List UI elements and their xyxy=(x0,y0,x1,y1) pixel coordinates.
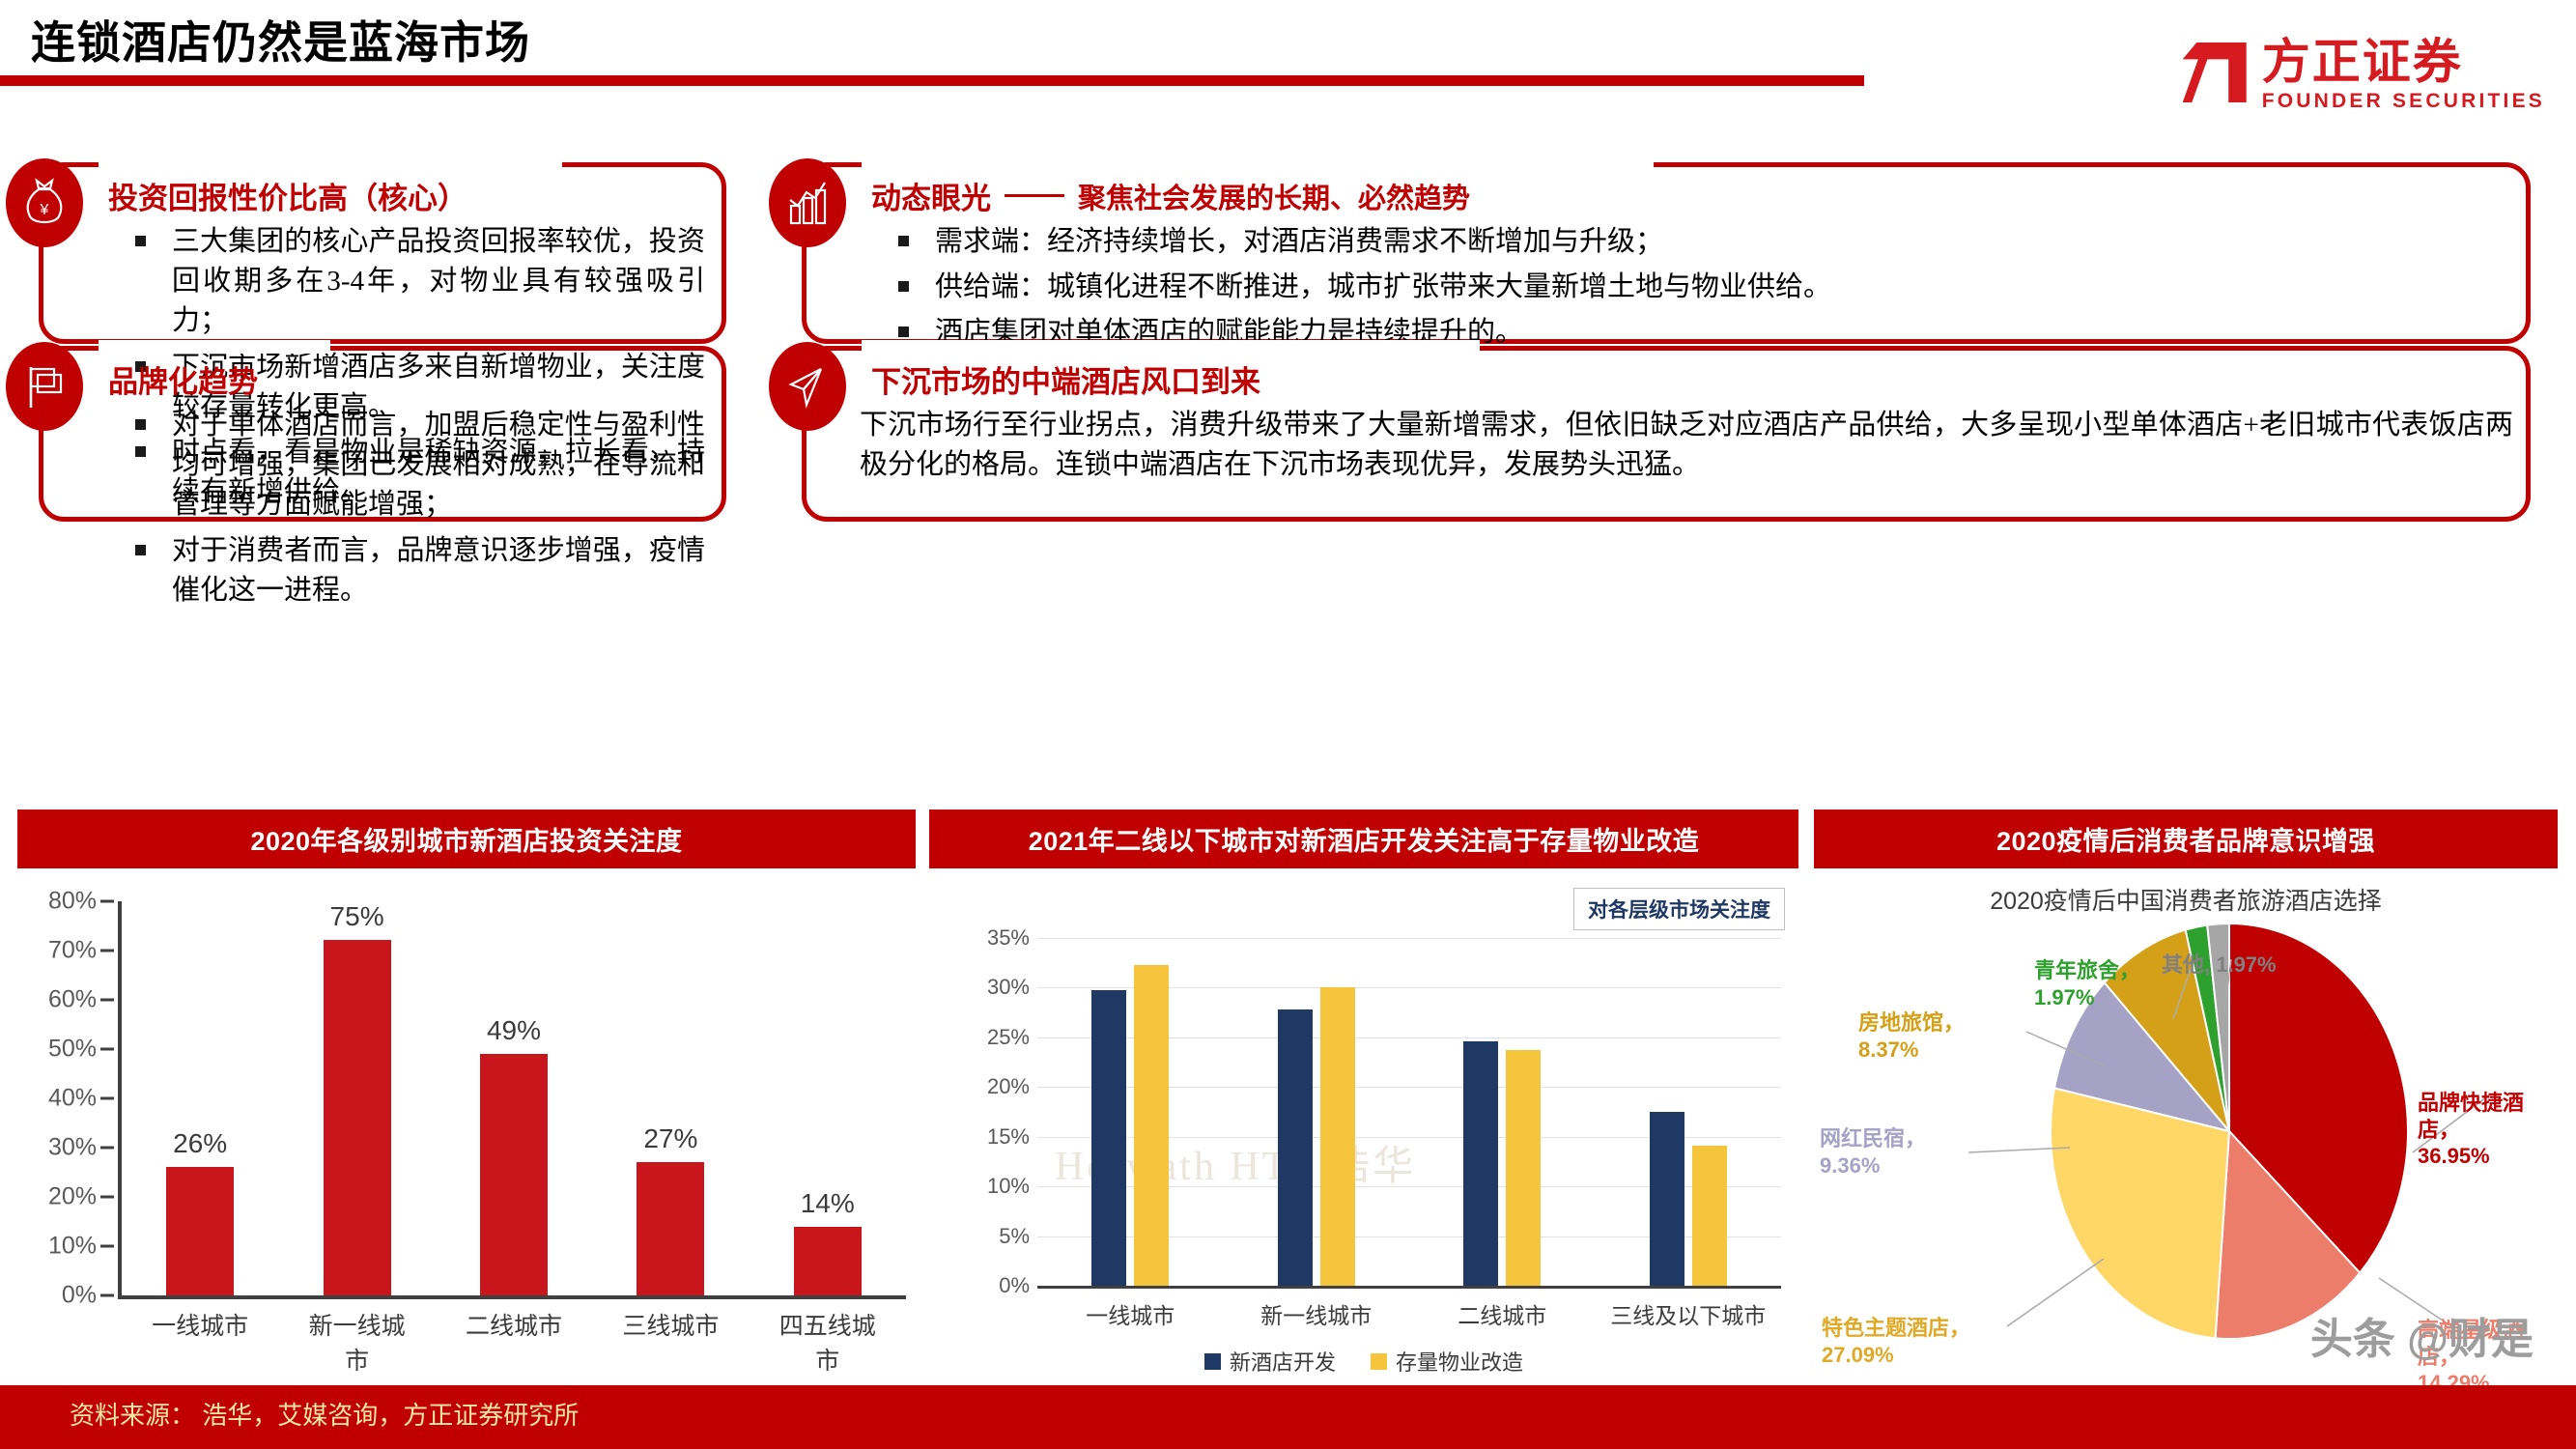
bar-value-label: 27% xyxy=(643,1123,697,1154)
bar-value-label: 49% xyxy=(487,1015,541,1046)
bar xyxy=(480,1054,548,1295)
legend-label: 存量物业改造 xyxy=(1396,1346,1523,1377)
bar-group: 27% xyxy=(613,901,727,1295)
bar xyxy=(1692,1146,1727,1286)
bar-group xyxy=(1091,938,1169,1286)
bar-group: 75% xyxy=(300,901,414,1295)
bar xyxy=(637,1162,704,1295)
legend-label: 新酒店开发 xyxy=(1230,1346,1336,1377)
brand-logo: 方正证券 FOUNDER SECURITIES xyxy=(2183,37,2545,113)
x-tick-label: 三线城市 xyxy=(613,1307,727,1377)
bar xyxy=(1320,987,1355,1286)
bar-value-label: 14% xyxy=(801,1188,855,1219)
bar xyxy=(1650,1112,1684,1286)
slide: 连锁酒店仍然是蓝海市场 方正证券 FOUNDER SECURITIES ¥ 投资… xyxy=(0,0,2576,1449)
bar xyxy=(1463,1041,1498,1286)
list-item: 供给端：城镇化进程不断推进，城市扩张带来大量新增土地与物业供给。 xyxy=(891,268,2509,307)
list-item: 对于消费者而言，品牌意识逐步增强，疫情催化这一进程。 xyxy=(127,531,705,611)
y-tick-label: 70% xyxy=(48,937,97,965)
callout-brandization-trend: 品牌化趋势 对于单体酒店而言，加盟后稳定性与盈利性均可增强，集团已发展相对成熟，… xyxy=(39,346,726,522)
bar xyxy=(794,1227,862,1295)
bar xyxy=(1506,1050,1541,1286)
y-tick-mark xyxy=(100,1196,114,1199)
title-divider xyxy=(0,75,1864,86)
leader-line xyxy=(2007,1259,2104,1326)
y-tick-label: 0% xyxy=(62,1282,97,1310)
y-tick-mark xyxy=(100,1294,114,1297)
paper-plane-icon xyxy=(769,342,846,431)
callout-title: 下沉市场的中端酒店风口到来 xyxy=(871,357,1260,401)
bar xyxy=(1278,1009,1313,1286)
list-item: 需求端：经济持续增长，对酒店消费需求不断增加与升级； xyxy=(891,222,2509,262)
bar-group xyxy=(1463,938,1541,1286)
flag-icon xyxy=(6,342,83,431)
x-tick-label: 四五线城市 xyxy=(771,1307,885,1377)
panel-bar-chart-2: 2021年二线以下城市对新酒店开发关注高于存量物业改造 对各层级市场关注度 0%… xyxy=(929,810,1798,1394)
y-tick-mark xyxy=(100,999,114,1002)
money-bag-icon: ¥ xyxy=(6,158,83,247)
x-axis-line xyxy=(118,1295,906,1299)
y-tick-label: 15% xyxy=(937,1124,1030,1150)
y-tick-label: 0% xyxy=(937,1273,1030,1298)
bar xyxy=(1134,965,1169,1286)
y-tick-mark xyxy=(100,1245,114,1248)
y-tick-label: 10% xyxy=(937,1174,1030,1199)
callout-subtitle-text: 聚焦社会发展的长期、必然趋势 xyxy=(1078,176,1470,216)
bar-group xyxy=(1650,938,1727,1286)
bar-value-label: 26% xyxy=(173,1128,227,1159)
y-tick-label: 30% xyxy=(48,1134,97,1162)
y-tick-label: 25% xyxy=(937,1025,1030,1050)
plot-area: 26%75%49%27%14% xyxy=(122,901,906,1295)
panel-title: 2021年二线以下城市对新酒店开发关注高于存量物业改造 xyxy=(929,810,1798,868)
callout-title: 品牌化趋势 xyxy=(108,357,258,401)
callout-bullet-list: 对于单体酒店而言，加盟后稳定性与盈利性均可增强，集团已发展相对成熟，在导流和管理… xyxy=(127,406,705,616)
pie-slice-label: 特色主题酒店， 27.09% xyxy=(1822,1315,1970,1368)
callout-paragraph: 下沉市场行至行业拐点，消费升级带来了大量新增需求，但依旧缺乏对应酒店产品供给，大… xyxy=(860,406,2513,485)
toutiao-watermark: 头条 @财是 xyxy=(2310,1304,2534,1366)
legend-swatch xyxy=(1204,1353,1221,1370)
legend-item: 新酒店开发 xyxy=(1204,1346,1336,1377)
x-tick-label: 新一线城市 xyxy=(1234,1297,1399,1330)
y-tick-label: 35% xyxy=(937,925,1030,951)
x-tick-label: 三线及以下城市 xyxy=(1606,1297,1770,1330)
x-axis-line xyxy=(1037,1286,1781,1289)
legend-item: 存量物业改造 xyxy=(1371,1346,1523,1377)
y-axis: 0%10%20%30%40%50%60%70%80% xyxy=(17,901,122,1295)
bar-chart-icon xyxy=(769,158,846,247)
brand-name-cn: 方正证券 xyxy=(2262,37,2545,88)
callout-title-text: 品牌化趋势 xyxy=(108,357,258,401)
x-axis-labels: 一线城市新一线城市二线城市三线及以下城市 xyxy=(1037,1297,1781,1330)
y-tick-label: 20% xyxy=(48,1183,97,1211)
legend-swatch xyxy=(1371,1353,1387,1370)
y-tick-label: 50% xyxy=(48,1036,97,1064)
pie-slice-label: 网红民宿， 9.36% xyxy=(1820,1125,1926,1179)
bar xyxy=(324,940,391,1295)
panel-pie-chart: 2020疫情后消费者品牌意识增强 2020疫情后中国消费者旅游酒店选择 品牌快捷… xyxy=(1814,810,2558,1384)
y-tick-label: 10% xyxy=(48,1233,97,1261)
chart-development-vs-renovation: 对各层级市场关注度 0%5%10%15%20%25%30%35% Horwath… xyxy=(929,892,1798,1394)
pie-slice-label: 品牌快捷酒店， 36.95% xyxy=(2418,1090,2558,1170)
callout-title-text: 投资回报性价比高（核心） xyxy=(108,174,467,217)
brand-name-en: FOUNDER SECURITIES xyxy=(2262,90,2545,113)
callout-investment-return: ¥ 投资回报性价比高（核心） 三大集团的核心产品投资回报率较优，投资回收期多在3… xyxy=(39,162,726,344)
x-tick-label: 新一线城市 xyxy=(300,1307,414,1377)
bar xyxy=(1091,990,1126,1287)
y-tick-mark xyxy=(100,950,114,952)
pie-slice-label: 青年旅舍， 1.97% xyxy=(2034,957,2140,1010)
callout-title: 投资回报性价比高（核心） xyxy=(108,174,467,217)
callout-dynamic-vision: 动态眼光 聚焦社会发展的长期、必然趋势 需求端：经济持续增长，对酒店消费需求不断… xyxy=(802,162,2531,344)
bar-value-label: 75% xyxy=(330,901,384,932)
bar xyxy=(166,1167,234,1295)
y-tick-mark xyxy=(100,900,114,903)
y-tick-label: 5% xyxy=(937,1224,1030,1249)
bar-group: 26% xyxy=(143,901,257,1295)
panel-title: 2020疫情后消费者品牌意识增强 xyxy=(1814,810,2558,868)
y-tick-mark xyxy=(100,1147,114,1150)
callout-title: 动态眼光 聚焦社会发展的长期、必然趋势 xyxy=(871,174,1470,217)
bar-group xyxy=(1278,938,1355,1286)
y-tick-label: 80% xyxy=(48,888,97,916)
svg-text:¥: ¥ xyxy=(40,202,49,218)
panel-bar-chart-1: 2020年各级别城市新酒店投资关注度 0%10%20%30%40%50%60%7… xyxy=(17,810,916,1355)
y-tick-label: 40% xyxy=(48,1085,97,1113)
callout-title-text: 下沉市场的中端酒店风口到来 xyxy=(871,357,1260,401)
chart-legend: 新酒店开发存量物业改造 xyxy=(929,1346,1798,1377)
pie-slice-label: 房地旅馆， 8.37% xyxy=(1858,1009,1965,1063)
x-tick-label: 二线城市 xyxy=(457,1307,571,1377)
source-text: 资料来源： 浩华，艾媒咨询，方正证券研究所 xyxy=(70,1396,579,1432)
y-tick-label: 60% xyxy=(48,986,97,1014)
x-tick-label: 一线城市 xyxy=(1048,1297,1212,1330)
x-tick-label: 一线城市 xyxy=(143,1307,257,1377)
panel-title: 2020年各级别城市新酒店投资关注度 xyxy=(17,810,916,868)
plot-area xyxy=(1037,938,1781,1286)
bar-group: 14% xyxy=(771,901,885,1295)
list-item: 对于单体酒店而言，加盟后稳定性与盈利性均可增强，集团已发展相对成熟，在导流和管理… xyxy=(127,406,705,526)
y-tick-label: 20% xyxy=(937,1074,1030,1099)
y-tick-mark xyxy=(100,1048,114,1051)
callout-title-text: 动态眼光 xyxy=(871,174,991,217)
page-title: 连锁酒店仍然是蓝海市场 xyxy=(31,8,530,71)
pie-slice xyxy=(2051,1088,2229,1338)
list-item: 三大集团的核心产品投资回报率较优，投资回收期多在3-4年，对物业具有较强吸引力； xyxy=(127,222,705,342)
chart-legend-title: 对各层级市场关注度 xyxy=(1573,888,1785,930)
title-dash xyxy=(1005,194,1064,197)
callout-sinking-market: 下沉市场的中端酒店风口到来 下沉市场行至行业拐点，消费升级带来了大量新增需求，但… xyxy=(802,346,2531,522)
x-axis-labels: 一线城市新一线城市二线城市三线城市四五线城市 xyxy=(122,1307,906,1377)
chart-investment-attention: 0%10%20%30%40%50%60%70%80% 26%75%49%27%1… xyxy=(17,892,916,1355)
y-tick-mark xyxy=(100,1097,114,1100)
founder-logo-icon xyxy=(2183,43,2247,102)
x-tick-label: 二线城市 xyxy=(1420,1297,1584,1330)
y-tick-label: 30% xyxy=(937,975,1030,1000)
bar-group: 49% xyxy=(457,901,571,1295)
pie-slice-label: 其他, 1.97% xyxy=(2162,952,2277,979)
callout-bullet-list: 需求端：经济持续增长，对酒店消费需求不断增加与升级； 供给端：城镇化进程不断推进… xyxy=(891,222,2509,359)
